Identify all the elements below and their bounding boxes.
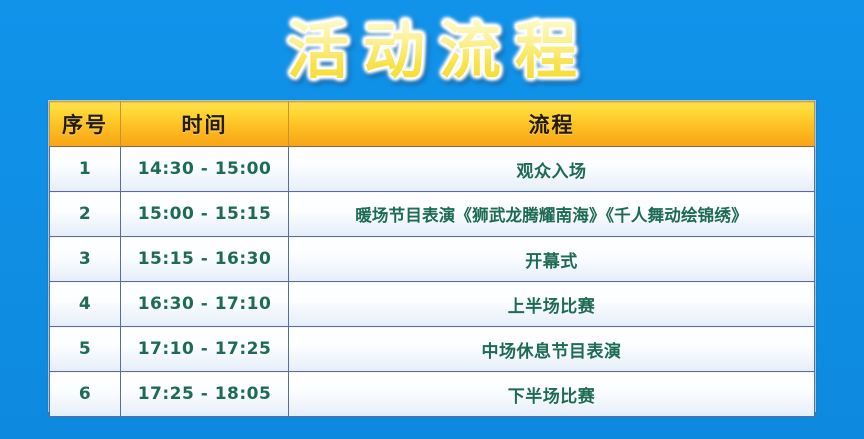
cell-item: 暖场节目表演《狮武龙腾耀南海》《千人舞动绘锦绣》 [289,192,815,237]
cell-no: 2 [50,192,121,237]
cell-time: 17:10 - 17:25 [121,327,289,372]
cell-time: 17:25 - 18:05 [121,372,289,417]
table-header: 序号 时间 流程 [50,102,815,147]
table-row: 2 15:00 - 15:15 暖场节目表演《狮武龙腾耀南海》《千人舞动绘锦绣》 [50,192,815,237]
cell-no: 3 [50,237,121,282]
cell-item: 开幕式 [289,237,815,282]
cell-time: 15:15 - 16:30 [121,237,289,282]
table-row: 1 14:30 - 15:00 观众入场 [50,147,815,192]
cell-no: 6 [50,372,121,417]
cell-time: 16:30 - 17:10 [121,282,289,327]
cell-no: 1 [50,147,121,192]
table-row: 6 17:25 - 18:05 下半场比赛 [50,372,815,417]
schedule-table-frame: 序号 时间 流程 1 14:30 - 15:00 观众入场 2 15:00 - … [48,100,816,412]
cell-item: 观众入场 [289,147,815,192]
cell-time: 15:00 - 15:15 [121,192,289,237]
cell-no: 4 [50,282,121,327]
table-body: 1 14:30 - 15:00 观众入场 2 15:00 - 15:15 暖场节… [50,147,815,417]
schedule-table: 序号 时间 流程 1 14:30 - 15:00 观众入场 2 15:00 - … [49,101,815,417]
poster-root: 活动流程 序号 时间 流程 1 14:30 - 15:00 观众入场 2 15:… [0,0,864,439]
cell-time: 14:30 - 15:00 [121,147,289,192]
column-header-time: 时间 [121,102,289,147]
table-row: 4 16:30 - 17:10 上半场比赛 [50,282,815,327]
poster-title-area: 活动流程 [0,8,864,94]
cell-item: 上半场比赛 [289,282,815,327]
table-header-row: 序号 时间 流程 [50,102,815,147]
column-header-no: 序号 [50,102,121,147]
cell-no: 5 [50,327,121,372]
table-row: 3 15:15 - 16:30 开幕式 [50,237,815,282]
cell-item: 中场休息节目表演 [289,327,815,372]
cell-item: 下半场比赛 [289,372,815,417]
table-row: 5 17:10 - 17:25 中场休息节目表演 [50,327,815,372]
page-title: 活动流程 [273,20,591,82]
column-header-item: 流程 [289,102,815,147]
